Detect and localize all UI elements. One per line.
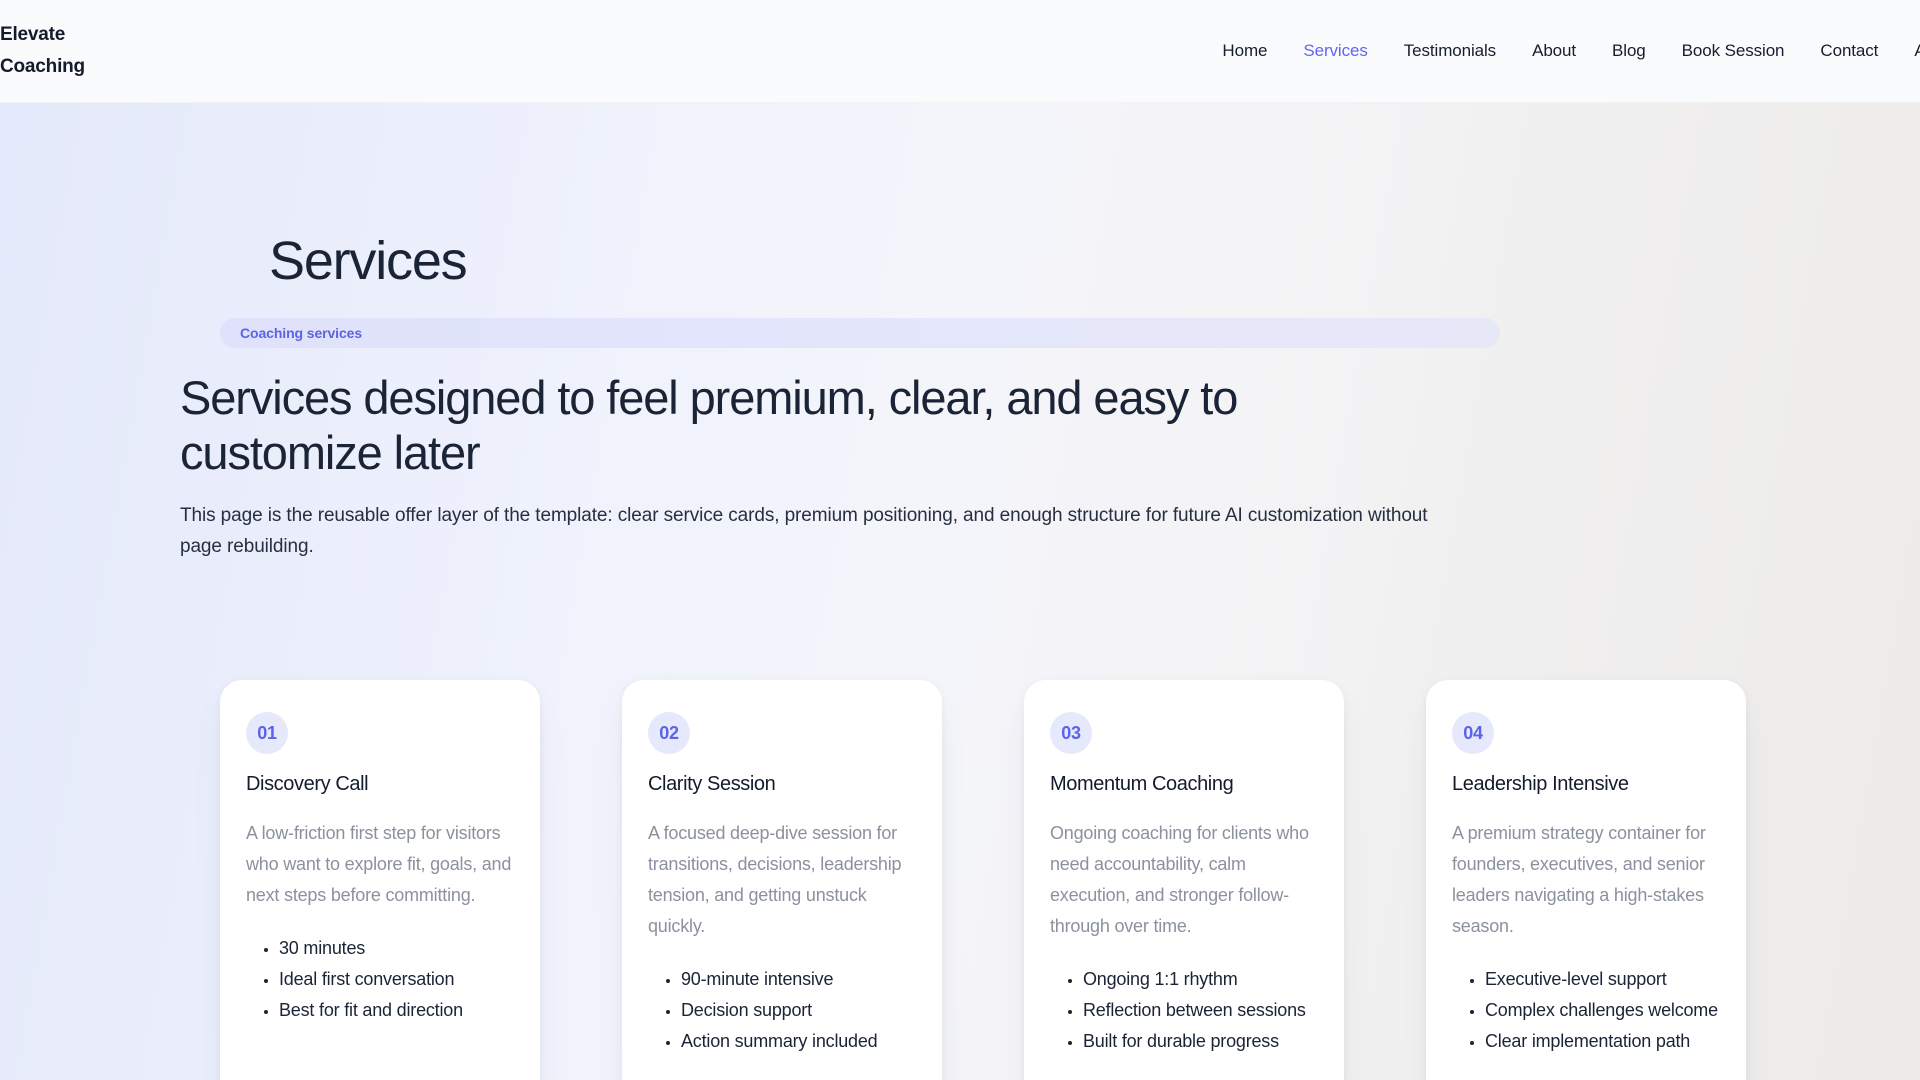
service-number-badge: 04 [1452, 712, 1494, 754]
hero-headline: Services designed to feel premium, clear… [180, 370, 1300, 480]
main-navigation: Home Services Testimonials About Blog Bo… [1222, 40, 1920, 62]
service-title: Discovery Call [246, 770, 514, 798]
service-feature-list: Executive-level support Complex challeng… [1452, 964, 1720, 1057]
list-item: Reflection between sessions [1083, 995, 1318, 1026]
list-item: Complex challenges welcome [1485, 995, 1720, 1026]
nav-link-admin[interactable]: Admin [1914, 40, 1920, 62]
service-feature-list: 90-minute intensive Decision support Act… [648, 964, 916, 1057]
service-number-badge: 03 [1050, 712, 1092, 754]
nav-link-contact[interactable]: Contact [1820, 40, 1878, 62]
nav-link-services[interactable]: Services [1303, 40, 1367, 62]
list-item: 90-minute intensive [681, 964, 916, 995]
brand-logo[interactable]: Elevate Coaching [0, 19, 150, 83]
service-cards-row: 01 Discovery Call A low-friction first s… [220, 680, 1746, 1080]
list-item: 30 minutes [279, 933, 514, 964]
service-card[interactable]: 01 Discovery Call A low-friction first s… [220, 680, 540, 1080]
service-number-badge: 02 [648, 712, 690, 754]
service-title: Leadership Intensive [1452, 770, 1720, 798]
list-item: Decision support [681, 995, 916, 1026]
list-item: Built for durable progress [1083, 1026, 1318, 1057]
service-feature-list: Ongoing 1:1 rhythm Reflection between se… [1050, 964, 1318, 1057]
eyebrow-badge-label: Coaching services [240, 325, 362, 341]
list-item: Best for fit and direction [279, 995, 514, 1026]
service-number-badge: 01 [246, 712, 288, 754]
list-item: Action summary included [681, 1026, 916, 1057]
service-title: Momentum Coaching [1050, 770, 1318, 798]
page-title: Services [269, 231, 1920, 291]
service-description: A premium strategy container for founder… [1452, 818, 1720, 942]
site-header: Elevate Coaching Home Services Testimoni… [0, 0, 1920, 103]
list-item: Ongoing 1:1 rhythm [1083, 964, 1318, 995]
nav-link-book-session[interactable]: Book Session [1682, 40, 1785, 62]
nav-link-about[interactable]: About [1532, 40, 1576, 62]
list-item: Clear implementation path [1485, 1026, 1720, 1057]
brand-line-1: Elevate [0, 19, 150, 51]
service-title: Clarity Session [648, 770, 916, 798]
nav-link-home[interactable]: Home [1222, 40, 1267, 62]
service-feature-list: 30 minutes Ideal first conversation Best… [246, 933, 514, 1026]
nav-link-testimonials[interactable]: Testimonials [1404, 40, 1496, 62]
service-description: A low-friction first step for visitors w… [246, 818, 514, 911]
eyebrow-badge: Coaching services [220, 318, 1500, 348]
service-description: A focused deep-dive session for transiti… [648, 818, 916, 942]
list-item: Executive-level support [1485, 964, 1720, 995]
brand-line-2: Coaching [0, 51, 150, 83]
service-description: Ongoing coaching for clients who need ac… [1050, 818, 1318, 942]
nav-link-blog[interactable]: Blog [1612, 40, 1646, 62]
hero-description: This page is the reusable offer layer of… [180, 500, 1470, 562]
hero-section: Services Coaching services Services desi… [0, 103, 1920, 1080]
service-card[interactable]: 04 Leadership Intensive A premium strate… [1426, 680, 1746, 1080]
hero-content: Services Coaching services Services desi… [220, 103, 1920, 562]
list-item: Ideal first conversation [279, 964, 514, 995]
service-card[interactable]: 02 Clarity Session A focused deep-dive s… [622, 680, 942, 1080]
service-card[interactable]: 03 Momentum Coaching Ongoing coaching fo… [1024, 680, 1344, 1080]
